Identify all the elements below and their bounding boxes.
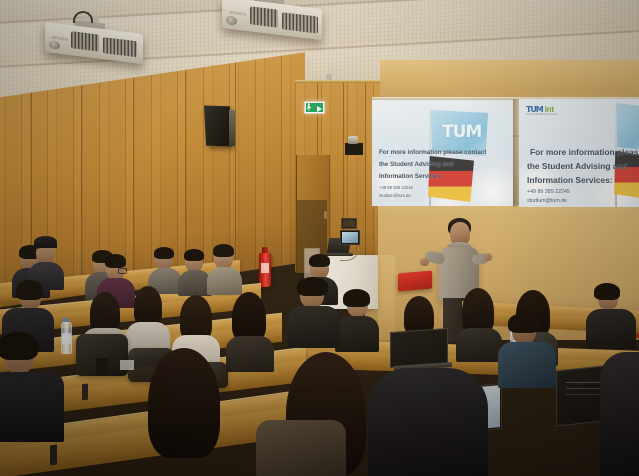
tan-wall-upper (380, 60, 639, 100)
presenter-hand-left (420, 258, 429, 266)
slide-left-line3: Information Services: (379, 172, 505, 181)
hair-long (148, 348, 220, 458)
slide-right-phone: +49 89 289 22245 (527, 188, 570, 197)
shoulders (368, 368, 488, 476)
extinguisher-label (261, 263, 269, 273)
hair (105, 254, 126, 268)
projector-vent (103, 37, 137, 57)
hair (154, 247, 174, 259)
projector-vent (282, 12, 318, 33)
wall-camera-icon (348, 136, 358, 144)
wall-camera-bracket (345, 143, 363, 155)
ceiling-speaker-side (229, 110, 235, 147)
glasses-icon (118, 268, 127, 274)
projector-lens (49, 40, 60, 49)
aux-monitor-display (343, 220, 355, 227)
papers (120, 360, 134, 370)
slide-right-line1: For more information pleas (530, 146, 639, 159)
projector-vent (250, 6, 278, 27)
monitor-display (342, 232, 358, 243)
hair (343, 289, 370, 307)
shoulders (456, 328, 502, 362)
hair (297, 277, 328, 296)
bench-bracket (50, 445, 57, 466)
hair-long (232, 292, 266, 342)
shoulders (600, 352, 639, 476)
hair (508, 313, 540, 333)
slide-left-line1: For more information please contact (379, 148, 505, 157)
projection-screen-right: TUM int TUM International Center For mor… (519, 99, 639, 207)
projector-left: EPSON (45, 22, 143, 66)
shoulders-plaid (498, 342, 556, 388)
fire-extinguisher (259, 253, 271, 287)
ceiling-speaker (204, 105, 232, 146)
projection-screen-left: TUM For more information please contact … (372, 100, 513, 206)
slide-left-phone: +49 89 289 22245 (379, 184, 413, 191)
hair-long (134, 286, 162, 326)
red-chair[interactable] (398, 271, 432, 292)
tum-int-logo: TUM int TUM International Center (526, 105, 554, 114)
hair (213, 244, 234, 257)
water-bottle[interactable] (61, 322, 72, 354)
shoulders (256, 420, 346, 476)
slide-right-line3: Information Services: (527, 174, 639, 187)
hair (184, 249, 204, 261)
laptop-text-line (566, 394, 602, 395)
projector-right: EPSON (222, 0, 322, 42)
hair (309, 254, 330, 267)
slide-left-line2: the Student Advising and (379, 160, 505, 169)
hair (16, 280, 43, 300)
lecture-hall-photo: EPSON EPSON (0, 0, 639, 476)
wall-top-trim (295, 80, 380, 83)
phone[interactable] (96, 358, 108, 376)
aux-monitor (341, 218, 357, 229)
bottle-label (62, 333, 71, 344)
slide-left-email: studium@tum.de (379, 192, 411, 199)
shoulders (288, 306, 340, 348)
exit-sign (304, 101, 325, 114)
shoulders (335, 316, 379, 352)
slide-right-email: studium@tum.de (527, 197, 567, 206)
exit-arrow-icon (317, 106, 322, 112)
confidence-monitor (340, 230, 360, 245)
tum-logo-subtitle: TUM International Center (526, 113, 558, 116)
projector-vent (71, 31, 99, 51)
slide-right-line2: the Student Advising and (527, 160, 639, 173)
projector-body: EPSON (45, 22, 143, 64)
hair (0, 332, 38, 360)
shoulders (226, 336, 274, 372)
shoulders (586, 309, 636, 349)
shoulders (207, 267, 242, 295)
projector-lens (226, 15, 237, 25)
hair (594, 283, 620, 300)
presenter-hand-right (484, 253, 492, 261)
tum-flag-wordmark: TUM (442, 122, 481, 142)
shoulders (0, 372, 64, 442)
bench-bracket (82, 384, 88, 401)
projector-body: EPSON (222, 0, 322, 40)
